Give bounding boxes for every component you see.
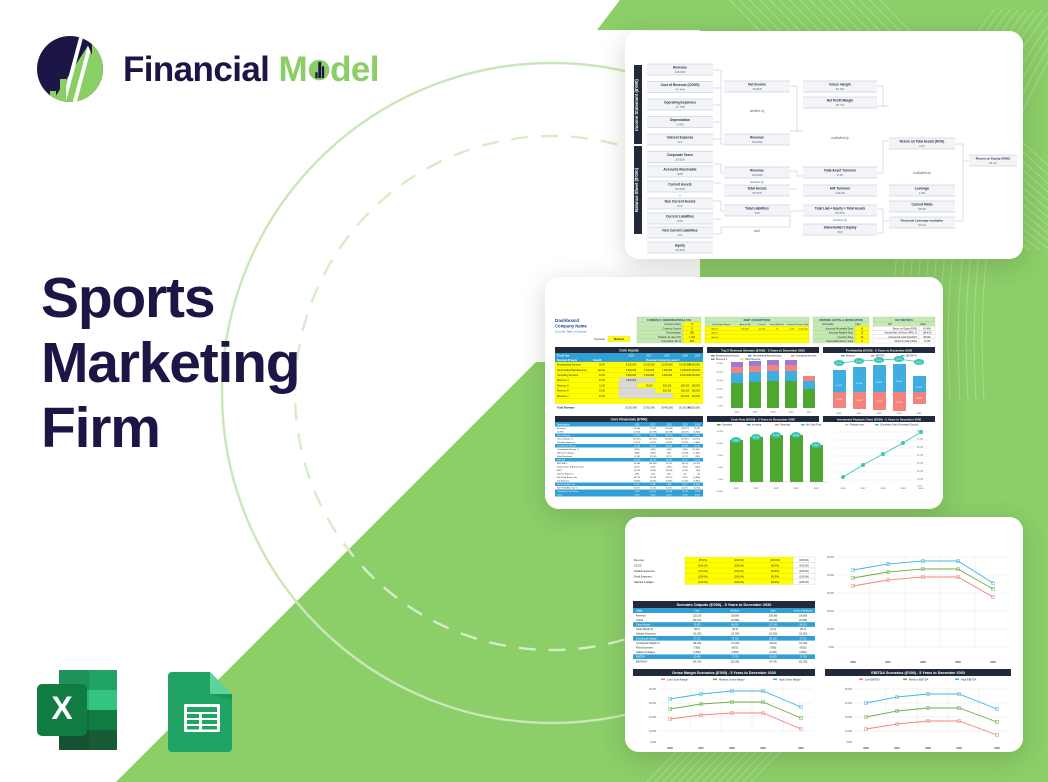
svg-text:Operating Expenses: Operating Expenses	[664, 101, 696, 105]
svg-text:(90.0%): (90.0%)	[771, 570, 780, 573]
svg-text:10,600: 10,600	[793, 435, 800, 437]
svg-text:(24): (24)	[667, 474, 671, 476]
svg-text:20,000: 20,000	[827, 611, 835, 613]
svg-text:Denomination: Denomination	[666, 332, 681, 335]
svg-text:Amount ($): Amount ($)	[740, 323, 751, 326]
svg-text:Medium: Medium	[614, 337, 625, 341]
svg-text:27,000,000: 27,000,000	[643, 407, 656, 410]
svg-text:Total Assets: Total Assets	[747, 187, 766, 191]
svg-text:8,400: 8,400	[695, 495, 701, 497]
svg-text:(95.0%): (95.0%)	[771, 575, 780, 578]
svg-text:Revenue 4: Revenue 4	[557, 379, 569, 382]
svg-text:58.8%: 58.8%	[896, 359, 902, 361]
svg-text:(5.3%): (5.3%)	[694, 488, 700, 490]
svg-text:2030: 2030	[695, 354, 701, 357]
svg-text:Interest Expense: Interest Expense	[667, 136, 694, 140]
svg-text:240,000: 240,000	[681, 396, 690, 398]
svg-text:(58%): (58%)	[634, 449, 640, 451]
svg-text:-: -	[679, 77, 680, 81]
svg-text:Profitability ($'000) - 5 Year: Profitability ($'000) - 5 Years to Decem…	[846, 348, 913, 352]
brand-word-del: del	[330, 50, 379, 89]
svg-text:126,800: 126,800	[752, 140, 763, 144]
svg-text:Non Current Assets: Non Current Assets	[665, 200, 696, 204]
svg-text:(548): (548)	[683, 449, 688, 451]
svg-text:(105.0%): (105.0%)	[799, 581, 809, 584]
svg-text:(100.0%): (100.0%)	[734, 570, 744, 573]
svg-text:(105.0%): (105.0%)	[799, 559, 809, 562]
svg-text:Revenue: Revenue	[636, 614, 646, 617]
svg-text:(201): (201)	[695, 456, 700, 458]
svg-text:77,041: 77,041	[650, 428, 657, 430]
svg-text:8,940: 8,940	[733, 440, 739, 442]
svg-text:EBIT: EBIT	[557, 470, 563, 472]
svg-text:1.9%: 1.9%	[919, 191, 926, 195]
svg-text:(13,163): (13,163)	[731, 634, 740, 636]
svg-text:(13,341): (13,341)	[692, 449, 700, 451]
svg-text:Payback year: Payback year	[850, 424, 864, 427]
svg-text:Net Cash Flow: Net Cash Flow	[806, 424, 821, 427]
dupont-analysis-screenshot[interactable]: Income Statement ($'000) Balance Sheet (…	[625, 31, 1023, 259]
svg-text:Return on Equity (ROE): Return on Equity (ROE)	[976, 157, 1011, 161]
svg-text:9,000,000: 9,000,000	[626, 365, 637, 367]
svg-text:107,180: 107,180	[769, 625, 778, 627]
svg-text:(105.0%): (105.0%)	[799, 575, 809, 578]
svg-text:Revenue: Revenue	[557, 428, 567, 430]
svg-text:57,710: 57,710	[693, 638, 701, 640]
svg-text:multiplied by: multiplied by	[831, 136, 849, 140]
svg-text:(60,76): (60,76)	[682, 463, 689, 465]
svg-text:Revenue: Revenue	[634, 559, 645, 562]
svg-text:Total Asset Turnover: Total Asset Turnover	[824, 169, 857, 173]
svg-text:-: -	[679, 129, 680, 133]
svg-text:(6,840): (6,840)	[693, 652, 701, 654]
svg-text:Gross Margin Scenarios ($'000): Gross Margin Scenarios ($'000) - 5 Years…	[672, 671, 776, 675]
svg-text:Financing: Financing	[780, 425, 791, 427]
svg-text:7,000,000: 7,000,000	[644, 370, 655, 372]
svg-text:Medium Gross Margin: Medium Gross Margin	[719, 678, 745, 682]
svg-text:27,100: 27,100	[856, 383, 862, 385]
svg-text:29,400,000: 29,400,000	[661, 407, 674, 410]
svg-text:8,400: 8,400	[682, 495, 688, 497]
svg-text:Accounts Receivable Days: Accounts Receivable Days	[826, 327, 854, 330]
svg-text:(157): (157)	[683, 456, 688, 458]
excel-icon[interactable]: X	[33, 666, 121, 754]
brand-wordmark: Financial M del	[123, 52, 379, 87]
svg-text:(2,005): (2,005)	[650, 481, 657, 483]
svg-text:2028: 2028	[666, 424, 672, 426]
svg-text:16,300: 16,300	[634, 428, 641, 430]
svg-text:Current Liabilities: Current Liabilities	[666, 215, 694, 219]
svg-text:(3,180): (3,180)	[769, 652, 777, 654]
svg-text:(6): (6)	[697, 474, 700, 476]
svg-text:(6,800): (6,800)	[693, 484, 700, 486]
svg-text:15,000: 15,000	[649, 717, 657, 719]
svg-text:Total Liab + Equity = Total As: Total Liab + Equity = Total Assets	[815, 207, 866, 211]
svg-text:Consulting Services: Consulting Services	[796, 355, 817, 358]
svg-text:(986): (986)	[635, 453, 640, 455]
svg-text:Salaries & Wages: Salaries & Wages	[634, 581, 655, 584]
svg-text:12,000: 12,000	[717, 431, 724, 433]
svg-text:(1,109): (1,109)	[650, 456, 657, 458]
svg-text:(627): (627)	[667, 456, 672, 458]
svg-text:Tax Expense: Tax Expense	[557, 481, 570, 483]
svg-text:Term (Months): Term (Months)	[770, 323, 784, 326]
svg-text:17,758: 17,758	[675, 105, 685, 109]
svg-text:12.00: 12.00	[599, 395, 606, 398]
svg-text:5,000: 5,000	[846, 742, 852, 744]
svg-text:Financial Leverage multiplier: Financial Leverage multiplier	[901, 219, 944, 223]
brand-word-financial: Financial	[123, 50, 269, 89]
svg-text:High Gross Margin: High Gross Margin	[779, 678, 801, 682]
svg-text:19,335: 19,335	[694, 428, 701, 430]
svg-text:9,977: 9,977	[682, 484, 688, 486]
svg-text:50,576: 50,576	[752, 191, 762, 195]
svg-text:2026: 2026	[863, 747, 869, 750]
svg-text:(7800): (7800)	[694, 648, 701, 650]
svg-text:2030: 2030	[798, 747, 804, 750]
svg-text:13,495: 13,495	[682, 491, 689, 493]
svg-text:949: 949	[754, 211, 759, 215]
svg-text:CURRENCY, DENOMINATION & TAX: CURRENCY, DENOMINATION & TAX	[647, 318, 692, 322]
svg-text:(1,28): (1,28)	[682, 470, 688, 472]
svg-text:(4,79): (4,79)	[695, 460, 701, 462]
svg-text:19,250: 19,250	[650, 477, 657, 479]
svg-text:Non Current Liabilities: Non Current Liabilities	[662, 229, 698, 233]
svg-text:2029: 2029	[794, 488, 800, 490]
svg-text:2028: 2028	[729, 747, 735, 750]
svg-text:Salaries & Wages: Salaries & Wages	[636, 651, 656, 654]
svg-text:(105.0%): (105.0%)	[799, 564, 809, 567]
svg-text:51.4%: 51.4%	[856, 361, 862, 363]
svg-text:Revenue 6: Revenue 6	[557, 390, 569, 393]
svg-text:125,130: 125,130	[693, 615, 702, 617]
svg-text:Add: Add	[753, 229, 760, 233]
financial-model-circle-logo	[34, 33, 106, 105]
svg-text:2026: 2026	[837, 413, 843, 415]
svg-text:Revenue Streams: Revenue Streams	[557, 359, 578, 362]
svg-text:46.1%: 46.1%	[836, 363, 842, 365]
svg-text:8,000: 8,000	[718, 455, 724, 457]
svg-text:100,626: 100,626	[681, 435, 689, 437]
svg-text:58.98: 58.98	[918, 207, 926, 211]
svg-text:75,700: 75,700	[731, 638, 739, 640]
svg-text:2026: 2026	[628, 354, 634, 357]
svg-text:Taxation as rate (CIT): Taxation as rate (CIT)	[658, 336, 681, 339]
svg-text:COGS: COGS	[557, 432, 564, 434]
svg-text:1,700: 1,700	[689, 336, 696, 339]
svg-text:15,000: 15,000	[717, 397, 724, 399]
svg-text:20,626: 20,626	[675, 158, 685, 162]
svg-text:50,745: 50,745	[666, 460, 673, 462]
svg-text:6,500,000: 6,500,000	[662, 375, 673, 377]
svg-text:Input: Input	[855, 323, 860, 326]
svg-text:2030: 2030	[919, 488, 925, 490]
svg-text:Units: Units	[636, 609, 643, 613]
svg-text:530,100: 530,100	[663, 385, 672, 387]
svg-text:Income Statement ($'000): Income Statement ($'000)	[634, 79, 639, 131]
svg-text:(13,100): (13,100)	[693, 634, 702, 636]
svg-text:2029: 2029	[897, 413, 903, 415]
title-line-1: Sports	[41, 266, 421, 331]
svg-text:48,828: 48,828	[752, 87, 762, 91]
svg-text:(449): (449)	[667, 449, 672, 451]
svg-text:40,770: 40,770	[634, 477, 641, 479]
svg-text:24,300: 24,300	[836, 385, 842, 387]
svg-text:127: 127	[677, 140, 682, 144]
svg-text:Current Ratio: Current Ratio	[911, 203, 932, 207]
svg-text:(4,849): (4,849)	[666, 442, 673, 444]
svg-text:Shareholder's Equity: Shareholder's Equity	[824, 226, 857, 230]
svg-text:180,100: 180,100	[681, 391, 690, 393]
svg-text:Revenue 7: Revenue 7	[557, 395, 569, 398]
svg-text:Scenario: Scenario	[594, 337, 605, 341]
svg-text:2027: 2027	[754, 488, 760, 490]
svg-text:8,400: 8,400	[666, 495, 672, 497]
svg-text:149.29: 149.29	[835, 191, 845, 195]
svg-text:5,000: 5,000	[718, 406, 724, 408]
svg-text:Inventory Days: Inventory Days	[838, 336, 854, 339]
svg-text:Revenue: Revenue	[846, 356, 856, 358]
svg-text:Low EBITDA: Low EBITDA	[865, 678, 880, 682]
svg-text:136,800: 136,800	[731, 615, 740, 617]
svg-text:(85.0%): (85.0%)	[699, 559, 708, 562]
svg-text:2029: 2029	[955, 661, 961, 664]
svg-text:2029: 2029	[789, 412, 795, 414]
svg-text:(63.0): (63.0)	[800, 629, 806, 631]
svg-text:(6,353): (6,353)	[693, 432, 700, 434]
svg-text:Gross margin: Gross margin	[829, 83, 850, 87]
svg-text:(38): (38)	[635, 474, 639, 476]
svg-text:2028: 2028	[664, 354, 670, 357]
svg-text:9,988: 9,988	[650, 484, 656, 486]
svg-text:(71.4): (71.4)	[770, 629, 776, 631]
svg-text:2029: 2029	[956, 747, 962, 750]
svg-text:Quarterly: Quarterly	[799, 327, 809, 330]
svg-text:13,000: 13,000	[917, 479, 924, 481]
svg-text:29,100: 29,100	[896, 381, 902, 383]
svg-text:(100.0%): (100.0%)	[734, 559, 744, 562]
svg-text:63.0%: 63.0%	[836, 87, 845, 91]
svg-text:Revenue: Revenue	[673, 66, 687, 70]
brand-word-m: M	[278, 50, 307, 89]
svg-text:5,500,000: 5,500,000	[626, 370, 637, 372]
svg-text:570: 570	[677, 204, 682, 208]
svg-text:15,000: 15,000	[845, 717, 853, 719]
svg-text:Go to the Table of Contents: Go to the Table of Contents	[555, 330, 587, 334]
svg-text:(50,10): (50,10)	[769, 643, 777, 645]
svg-text:1,781: 1,781	[676, 123, 684, 127]
svg-text:(8,108): (8,108)	[634, 460, 641, 462]
svg-text:(3,578): (3,578)	[650, 442, 657, 444]
svg-text:52,480: 52,480	[693, 657, 701, 659]
scenario-sheet: Revenue(85.0%)(100.0%)(105.0%)(105.0%)CO…	[625, 517, 1023, 752]
svg-text:A/R Turnover: A/R Turnover	[830, 187, 851, 191]
svg-text:(4,038): (4,038)	[693, 435, 700, 437]
svg-text:2027: 2027	[753, 412, 759, 414]
svg-text:Cumulative Cash Generated (Sou: Cumulative Cash Generated (Source)	[880, 424, 919, 427]
svg-text:(100.0%): (100.0%)	[734, 564, 744, 567]
svg-text:Currency Symbol: Currency Symbol	[663, 327, 682, 330]
svg-text:(404): (404)	[651, 449, 656, 451]
svg-text:(10): (10)	[651, 474, 655, 476]
scenario-outputs-screenshot[interactable]: Revenue(85.0%)(100.0%)(105.0%)(105.0%)CO…	[625, 517, 1023, 752]
svg-text:(871): (871)	[635, 467, 640, 469]
svg-text:35,050: 35,050	[650, 446, 657, 448]
svg-text:Rent/Overhead: Rent/Overhead	[557, 455, 573, 458]
svg-text:48,306: 48,306	[650, 435, 657, 437]
svg-text:30.00: 30.00	[599, 364, 606, 367]
svg-text:EBITDA Scenarios ($'000) - 5 Y: EBITDA Scenarios ($'000) - 5 Years to De…	[871, 671, 965, 675]
svg-text:(47.5%): (47.5%)	[649, 439, 657, 441]
svg-text:35.7%: 35.7%	[836, 103, 845, 107]
svg-text:20,200,000: 20,200,000	[625, 407, 638, 410]
svg-text:(43.0%): (43.0%)	[633, 439, 641, 441]
svg-text:2026: 2026	[667, 747, 673, 750]
svg-text:25,000: 25,000	[649, 689, 657, 691]
svg-text:Company Name: Company Name	[555, 324, 587, 329]
svg-text:88,300: 88,300	[799, 625, 807, 627]
svg-text:10,000: 10,000	[649, 731, 657, 733]
svg-text:265,000: 265,000	[692, 391, 701, 393]
svg-text:(5,800): (5,800)	[693, 481, 700, 483]
svg-text:Low Gross Margin: Low Gross Margin	[667, 678, 689, 682]
svg-text:2029: 2029	[682, 424, 688, 426]
svg-text:Top 5 Revenue Streams ($'000): Top 5 Revenue Streams ($'000) - 5 Years …	[721, 348, 805, 352]
svg-text:divided by: divided by	[750, 180, 764, 184]
svg-text:10,000: 10,000	[717, 443, 724, 445]
svg-text:8,400: 8,400	[634, 495, 640, 497]
svg-text:2026: 2026	[734, 488, 740, 490]
svg-text:2027: 2027	[857, 413, 863, 415]
svg-text:Accounts Payable Days: Accounts Payable Days	[829, 332, 854, 335]
svg-text:25,000: 25,000	[827, 593, 835, 595]
svg-text:(24,796): (24,796)	[649, 432, 657, 434]
title-line-3: Firm	[41, 396, 421, 461]
svg-text:Value: Value	[920, 324, 926, 326]
file-format-icons: X	[33, 666, 246, 754]
svg-text:800: 800	[837, 230, 842, 234]
dashboard-screenshot[interactable]: Dashboard Company Name Go to the Table o…	[545, 277, 943, 509]
svg-text:7,500,000: 7,500,000	[662, 370, 673, 372]
svg-text:(105.0%): (105.0%)	[698, 581, 708, 584]
svg-text:Revenue: Revenue	[750, 136, 764, 140]
svg-text:500,000: 500,000	[681, 385, 690, 387]
svg-text:Fixed Expenses: Fixed Expenses	[634, 575, 653, 578]
svg-text:(6,011): (6,011)	[650, 491, 657, 493]
svg-text:Low: Low	[695, 609, 700, 613]
svg-text:Merchandise/Manufacturing: Merchandise/Manufacturing	[753, 355, 782, 358]
svg-text:42,246: 42,246	[634, 463, 641, 465]
svg-text:Dashboard: Dashboard	[555, 318, 579, 323]
svg-text:(46,100): (46,100)	[693, 643, 702, 645]
svg-text:(55.0%): (55.0%)	[693, 439, 701, 441]
svg-text:Minimum Cash (000s): Minimum Cash (000s)	[895, 341, 918, 343]
brand-logo-o-glyph	[308, 52, 330, 74]
svg-text:848: 848	[677, 172, 682, 176]
svg-text:28,156: 28,156	[650, 460, 657, 462]
svg-text:2,000: 2,000	[718, 479, 724, 481]
svg-text:Revenue 4: Revenue 4	[716, 359, 728, 361]
svg-text:Internal Rate of Return (IRR),: Internal Rate of Return (IRR), %	[884, 332, 917, 335]
svg-text:10.00: 10.00	[599, 374, 606, 377]
svg-text:(80,270): (80,270)	[693, 620, 702, 622]
svg-text:multiplied by: multiplied by	[913, 171, 931, 175]
svg-text:(52,195): (52,195)	[799, 661, 808, 663]
svg-text:2027: 2027	[698, 747, 704, 750]
svg-text:44.5%: 44.5%	[682, 488, 688, 490]
svg-text:7,250,000: 7,250,000	[690, 370, 701, 372]
svg-text:Corporation Tax %: Corporation Tax %	[661, 340, 681, 343]
svg-text:8,400: 8,400	[650, 495, 656, 497]
svg-text:80,150: 80,150	[769, 638, 777, 640]
svg-text:15,000,000: 15,000,000	[661, 365, 673, 367]
svg-text:Contribution Margin %: Contribution Margin %	[557, 448, 579, 451]
svg-text:34.5%: 34.5%	[634, 488, 640, 490]
svg-text:11.00: 11.00	[599, 384, 605, 387]
svg-text:2030: 2030	[990, 661, 996, 664]
svg-text:(2,413): (2,413)	[634, 442, 641, 444]
svg-text:Net Profit After Tax: Net Profit After Tax	[557, 483, 576, 486]
svg-text:Variable Expenses: Variable Expenses	[557, 441, 576, 444]
svg-text:25,000: 25,000	[717, 380, 724, 382]
svg-text:10,1660: 10,1660	[633, 435, 641, 437]
svg-text:148.61%: 148.61%	[922, 333, 931, 335]
title-line-2: Marketing	[41, 331, 421, 396]
svg-text:(71,100): (71,100)	[799, 643, 808, 645]
svg-text:Close: Close	[557, 495, 563, 497]
svg-text:70,000: 70,000	[645, 385, 653, 387]
svg-text:WORKING CAPITAL & DEPRECIATION: WORKING CAPITAL & DEPRECIATION	[819, 319, 863, 322]
google-sheets-icon[interactable]	[158, 666, 246, 754]
svg-text:(1,043): (1,043)	[682, 453, 689, 455]
svg-text:(56.3): (56.3)	[694, 629, 700, 631]
svg-text:(71,100): (71,100)	[731, 643, 740, 645]
svg-text:24,000: 24,000	[917, 471, 924, 473]
svg-text:EBITDA %: EBITDA %	[906, 355, 917, 358]
svg-text:COGS: COGS	[636, 619, 643, 622]
svg-text:DEBT ASSUMPTIONS: DEBT ASSUMPTIONS	[744, 318, 771, 322]
svg-text:71,700: 71,700	[731, 657, 739, 659]
svg-text:30,000: 30,000	[717, 372, 724, 374]
svg-text:Currency Name: Currency Name	[664, 323, 681, 326]
svg-text:2028: 2028	[925, 747, 931, 750]
svg-text:2.35: 2.35	[837, 173, 843, 177]
svg-text:Leverage: Leverage	[915, 187, 930, 191]
svg-text:136,800: 136,800	[799, 615, 808, 617]
svg-text:Investment Payback Chart ($'00: Investment Payback Chart ($'000) - 5 Yea…	[837, 417, 922, 421]
svg-text:Net Profit After Tax %: Net Profit After Tax %	[557, 487, 578, 490]
svg-text:5,000: 5,000	[828, 647, 834, 649]
svg-text:Active (Medium): Active (Medium)	[794, 609, 813, 613]
svg-text:Broadcasting Services: Broadcasting Services	[557, 364, 582, 367]
svg-text:-15,700: -15,700	[876, 401, 882, 403]
svg-text:(5): (5)	[684, 474, 687, 476]
svg-text:000: 000	[690, 332, 695, 335]
svg-text:(52,195): (52,195)	[731, 661, 740, 663]
svg-text:6,300,000: 6,300,000	[644, 375, 655, 377]
svg-text:44.5%: 44.5%	[666, 488, 672, 490]
svg-text:Depreciation: Depreciation	[670, 118, 690, 122]
svg-text:(95.0%): (95.0%)	[771, 564, 780, 567]
svg-text:EBITDA %: EBITDA %	[557, 462, 567, 465]
svg-text:4,800,000: 4,800,000	[626, 380, 637, 382]
svg-text:50,006: 50,006	[675, 187, 685, 191]
svg-text:High EBITDA: High EBITDA	[961, 678, 977, 682]
svg-text:Accounts Receivable: Accounts Receivable	[663, 168, 696, 172]
svg-text:(5,902): (5,902)	[682, 442, 689, 444]
svg-text:(67,49): (67,49)	[769, 661, 777, 663]
svg-text:-11,200: -11,200	[836, 399, 842, 401]
